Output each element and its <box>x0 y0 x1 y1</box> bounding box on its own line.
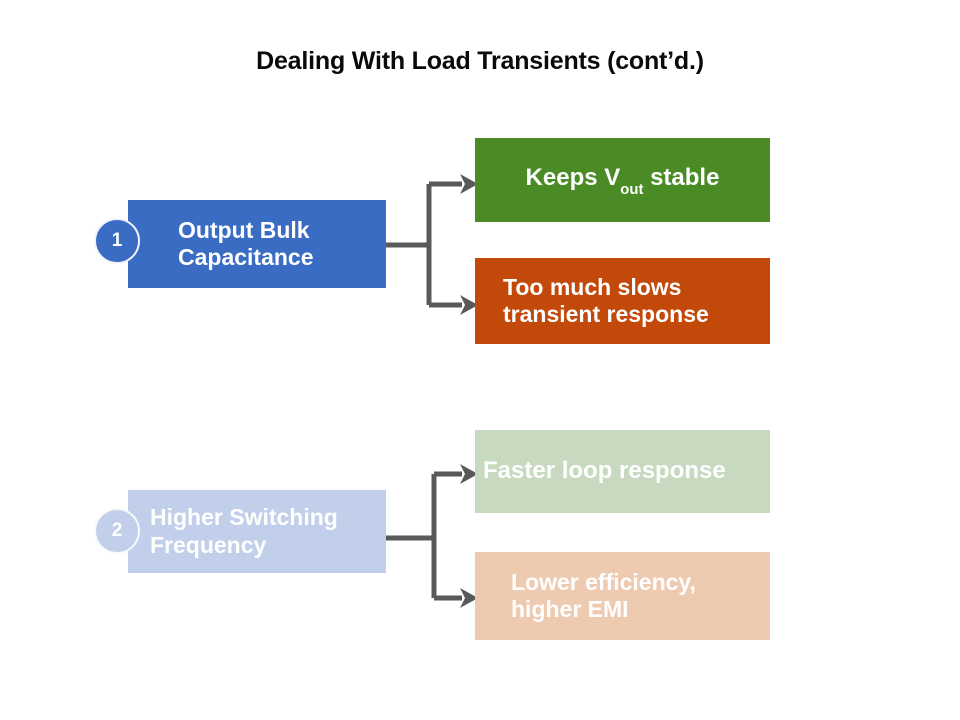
outcome-box-lower-efficiency-higher-emi[interactable]: Lower efficiency, higher EMI <box>475 552 770 640</box>
source-box-line-2: Capacitance <box>178 244 386 271</box>
outcome-line-1: Too much slows <box>503 274 770 301</box>
number-badge-2[interactable]: 2 <box>94 508 140 554</box>
outcome-line-2: higher EMI <box>511 596 770 623</box>
outcome-text-prefix: Keeps V <box>526 164 621 191</box>
source-box-output-bulk-capacitance[interactable]: Output Bulk Capacitance <box>128 200 386 288</box>
page-title: Dealing With Load Transients (cont’d.) <box>0 47 960 76</box>
outcome-box-too-much-slows-transient-response[interactable]: Too much slows transient response <box>475 258 770 344</box>
outcome-text-suffix: stable <box>643 164 719 191</box>
elbow-arrow-icon-group-1 <box>386 160 486 330</box>
source-box-line-2: Frequency <box>150 532 386 559</box>
outcome-text: Keeps Vout stable <box>526 164 720 196</box>
outcome-line-1: Faster loop response <box>483 457 770 485</box>
number-badge-1[interactable]: 1 <box>94 218 140 264</box>
number-badge-1-label: 1 <box>112 230 123 252</box>
slide-canvas: Dealing With Load Transients (cont’d.) O… <box>0 0 960 720</box>
outcome-box-faster-loop-response[interactable]: Faster loop response <box>475 430 770 513</box>
outcome-line-1: Lower efficiency, <box>511 569 770 596</box>
number-badge-2-label: 2 <box>112 520 123 542</box>
source-box-higher-switching-frequency[interactable]: Higher Switching Frequency <box>128 490 386 573</box>
source-box-line-1: Output Bulk <box>178 217 386 244</box>
outcome-text-subscript: out <box>620 182 643 198</box>
source-box-line-1: Higher Switching <box>150 504 386 531</box>
outcome-line-2: transient response <box>503 301 770 328</box>
outcome-box-keeps-vout-stable[interactable]: Keeps Vout stable <box>475 138 770 222</box>
elbow-arrow-icon-group-2 <box>386 450 486 620</box>
